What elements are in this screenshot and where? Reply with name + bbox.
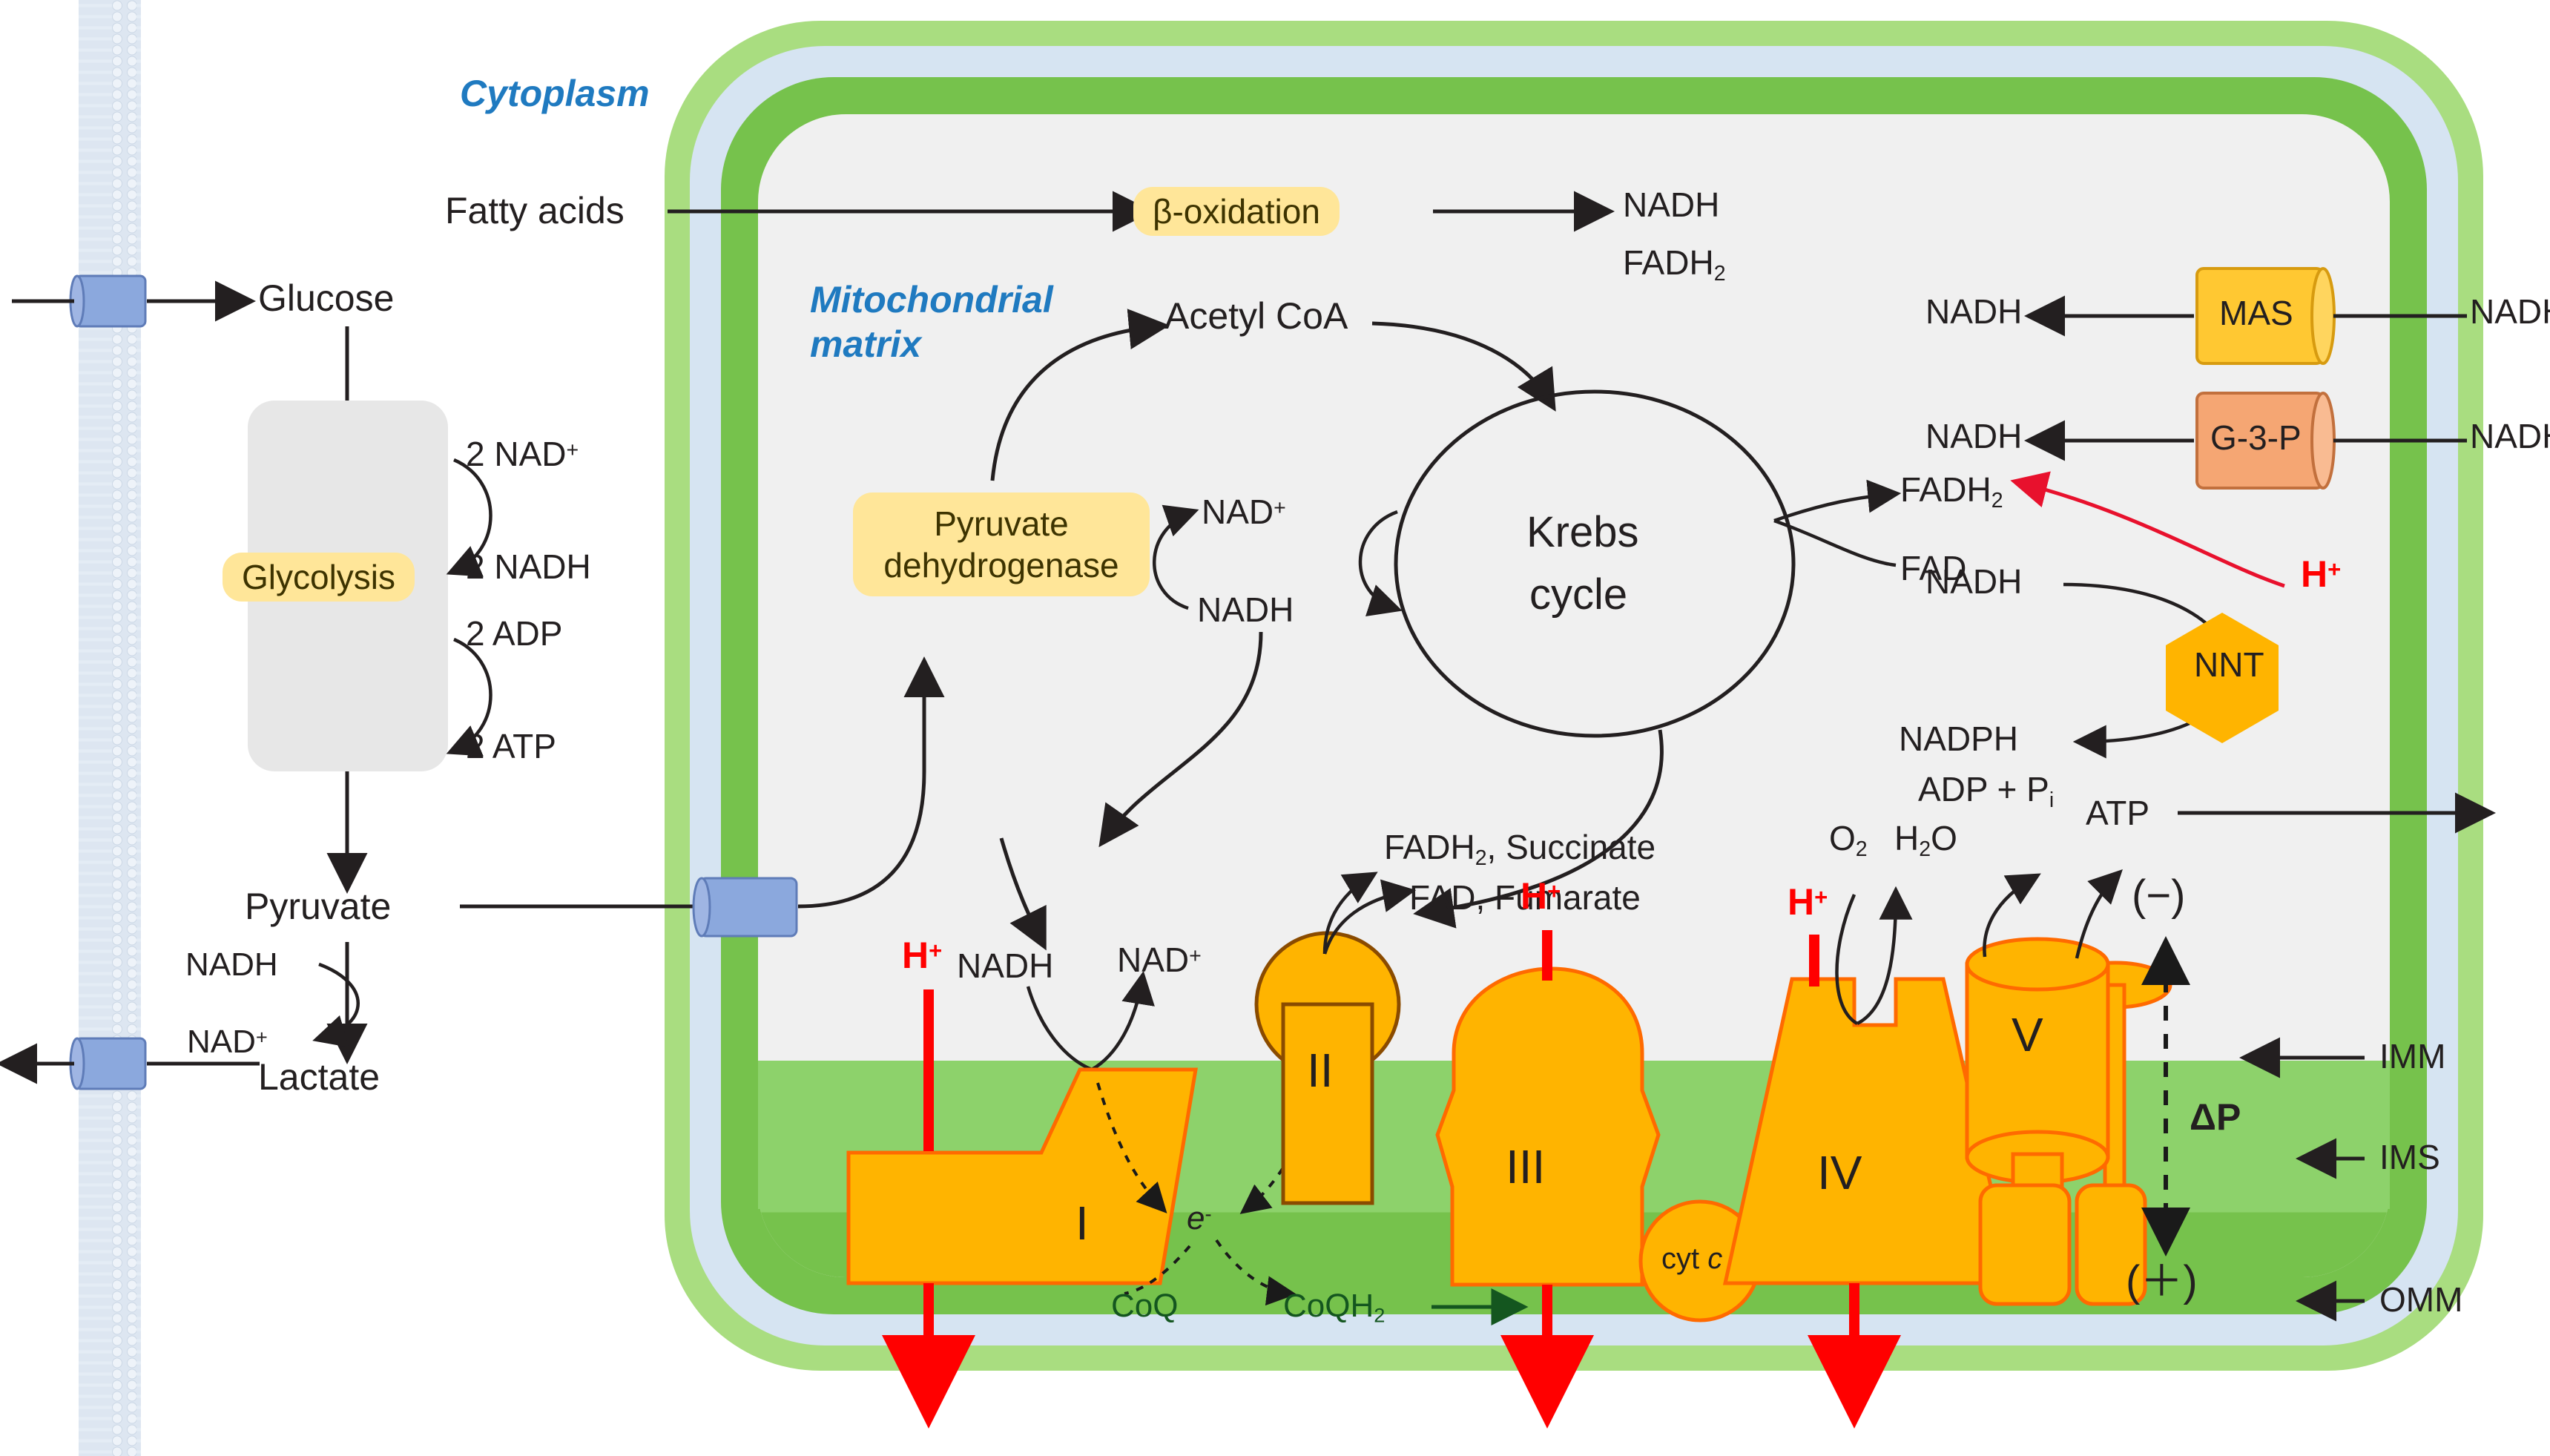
imm-pointer-label: IMM xyxy=(2379,1038,2445,1074)
ims-pointer-label: IMS xyxy=(2379,1139,2440,1175)
metabolism-diagram: Glucose Glycolysis 2 NAD+ 2 NADH 2 ADP 2… xyxy=(0,0,2550,1456)
membrane-label-svg xyxy=(0,0,2550,1456)
omm-pointer-label: OMM xyxy=(2379,1282,2462,1317)
